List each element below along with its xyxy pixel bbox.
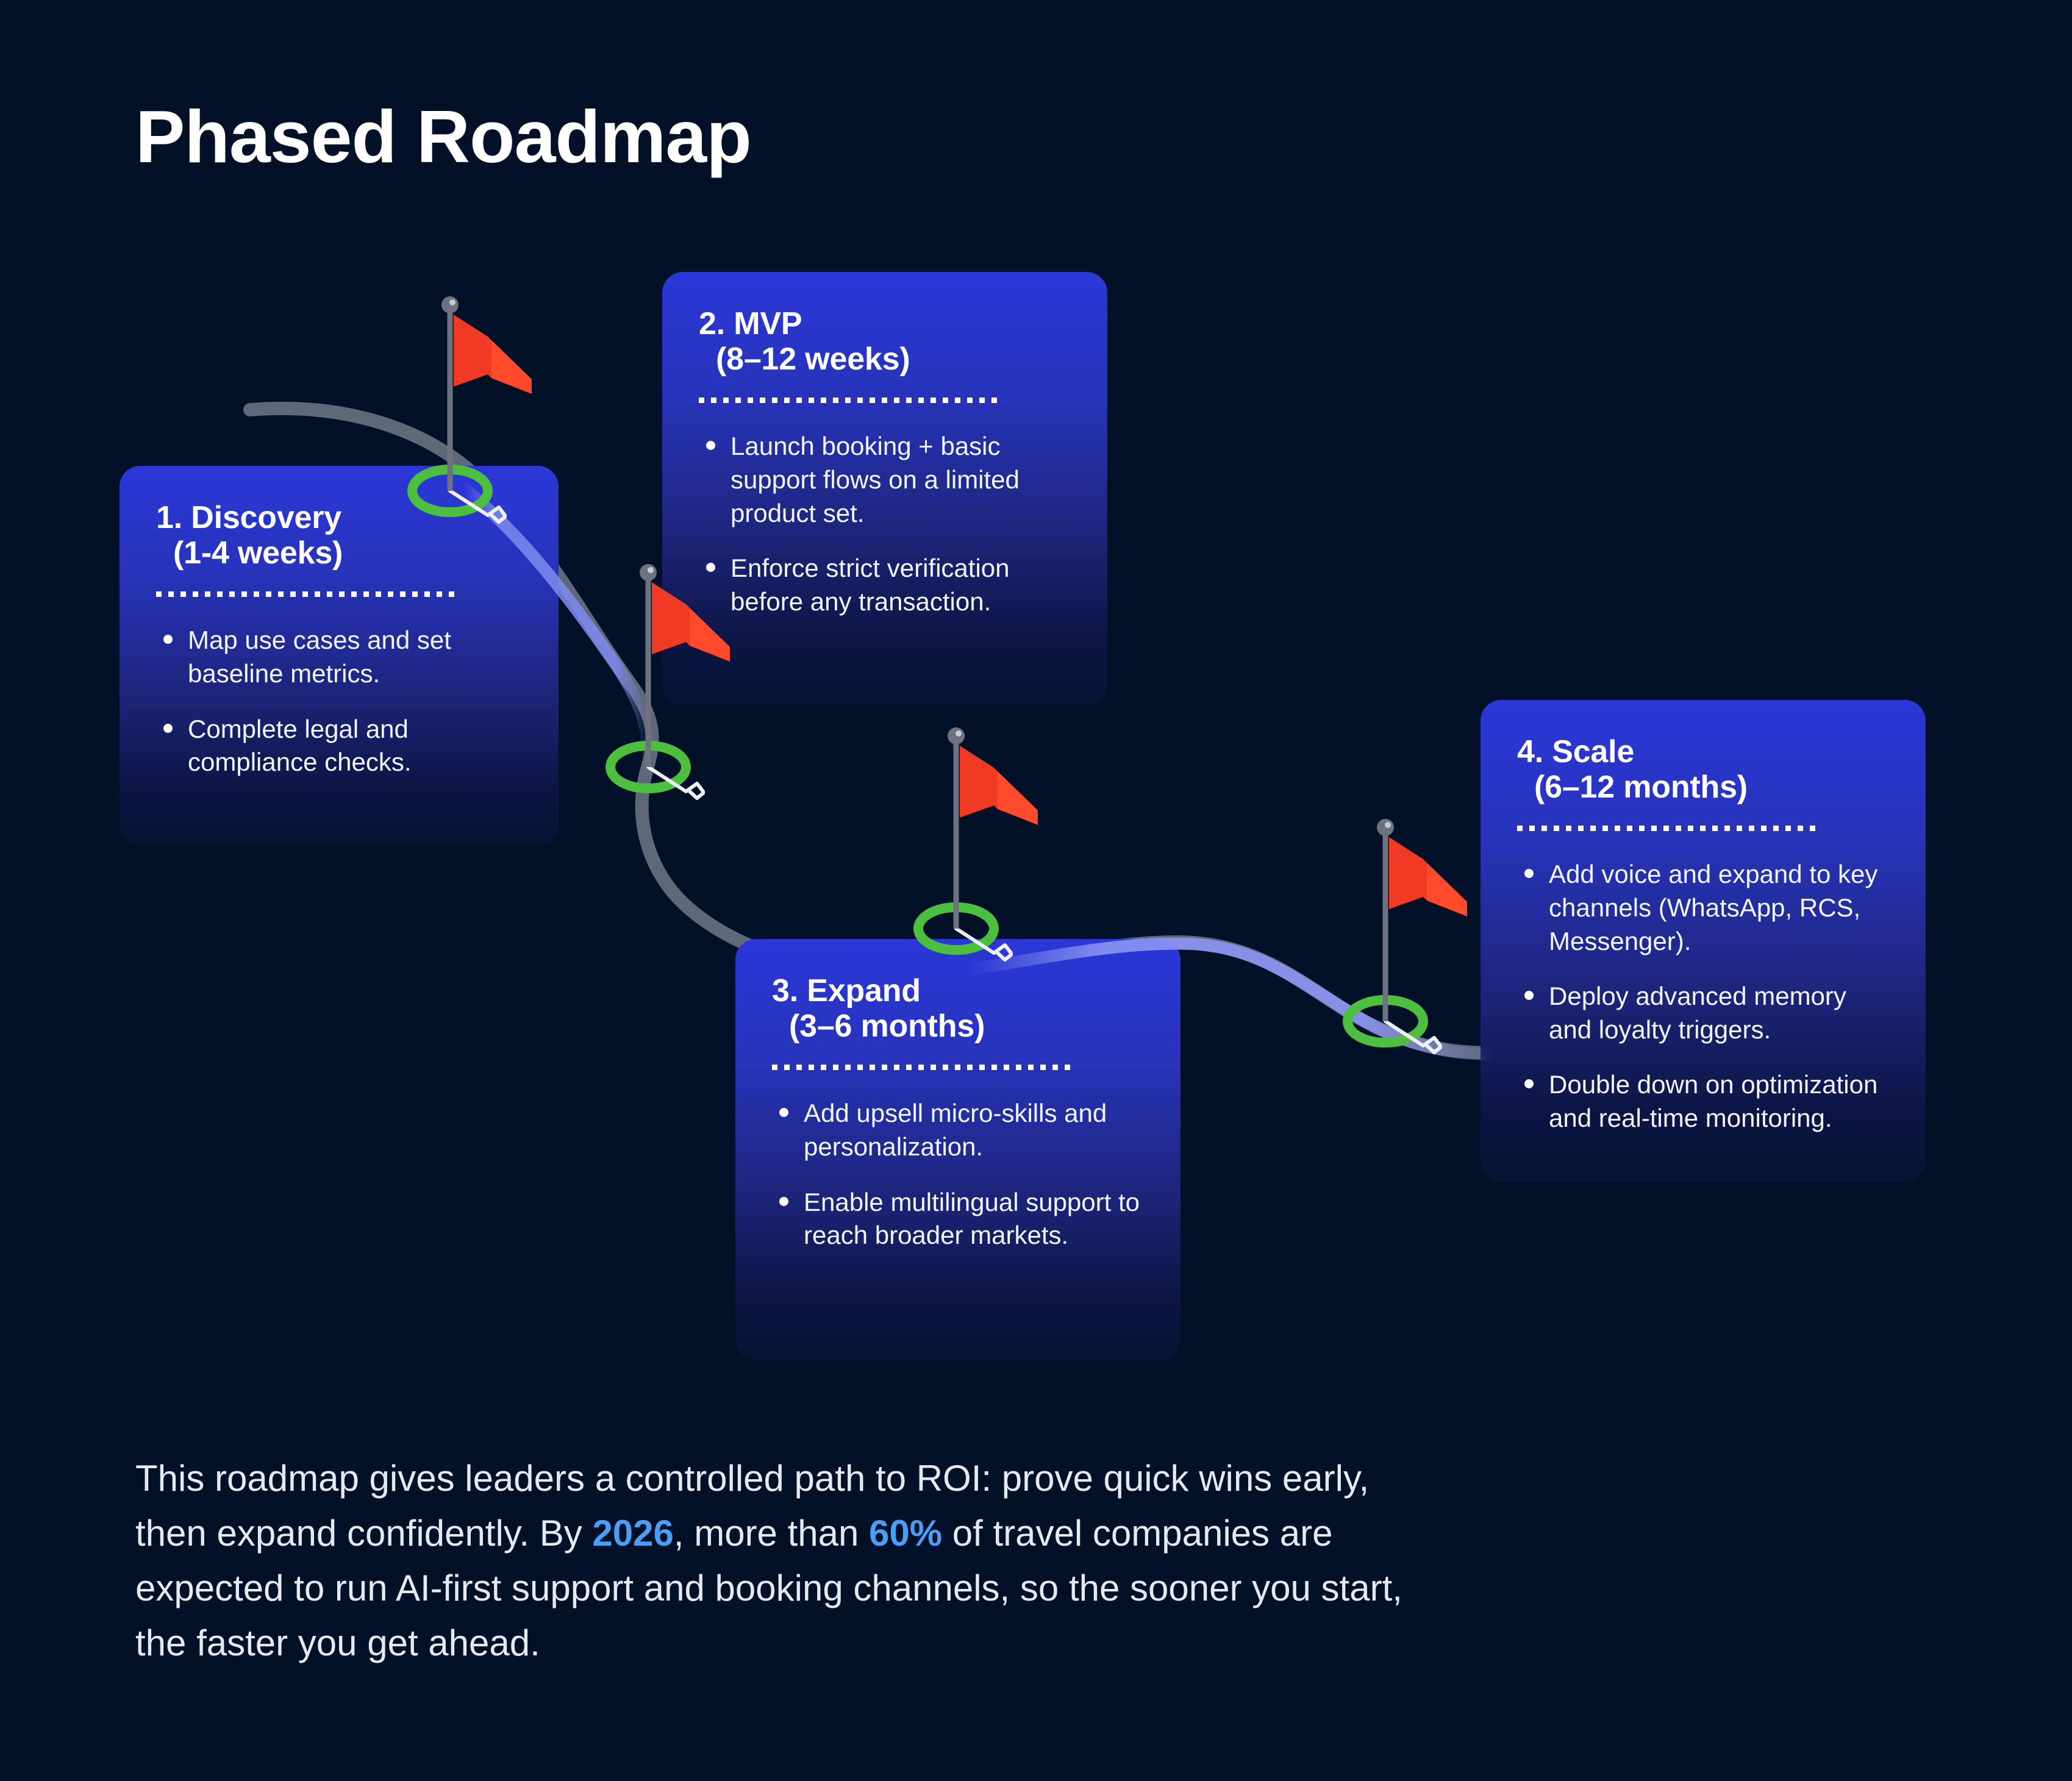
milestone-flag-3 [918,727,1038,960]
roadmap-infographic: Phased Roadmap 1. Discovery (1-4 weeks) … [0,0,2072,1781]
milestone-flag-2 [610,564,730,798]
footer-summary: This roadmap gives leaders a controlled … [135,1451,1428,1671]
footer-highlight-year: 2026 [592,1513,673,1554]
footer-text-part2: , more than [674,1513,869,1554]
footer-highlight-percent: 60% [869,1513,942,1554]
milestone-flag-1 [412,296,532,522]
milestone-flag-4 [1348,819,1467,1052]
